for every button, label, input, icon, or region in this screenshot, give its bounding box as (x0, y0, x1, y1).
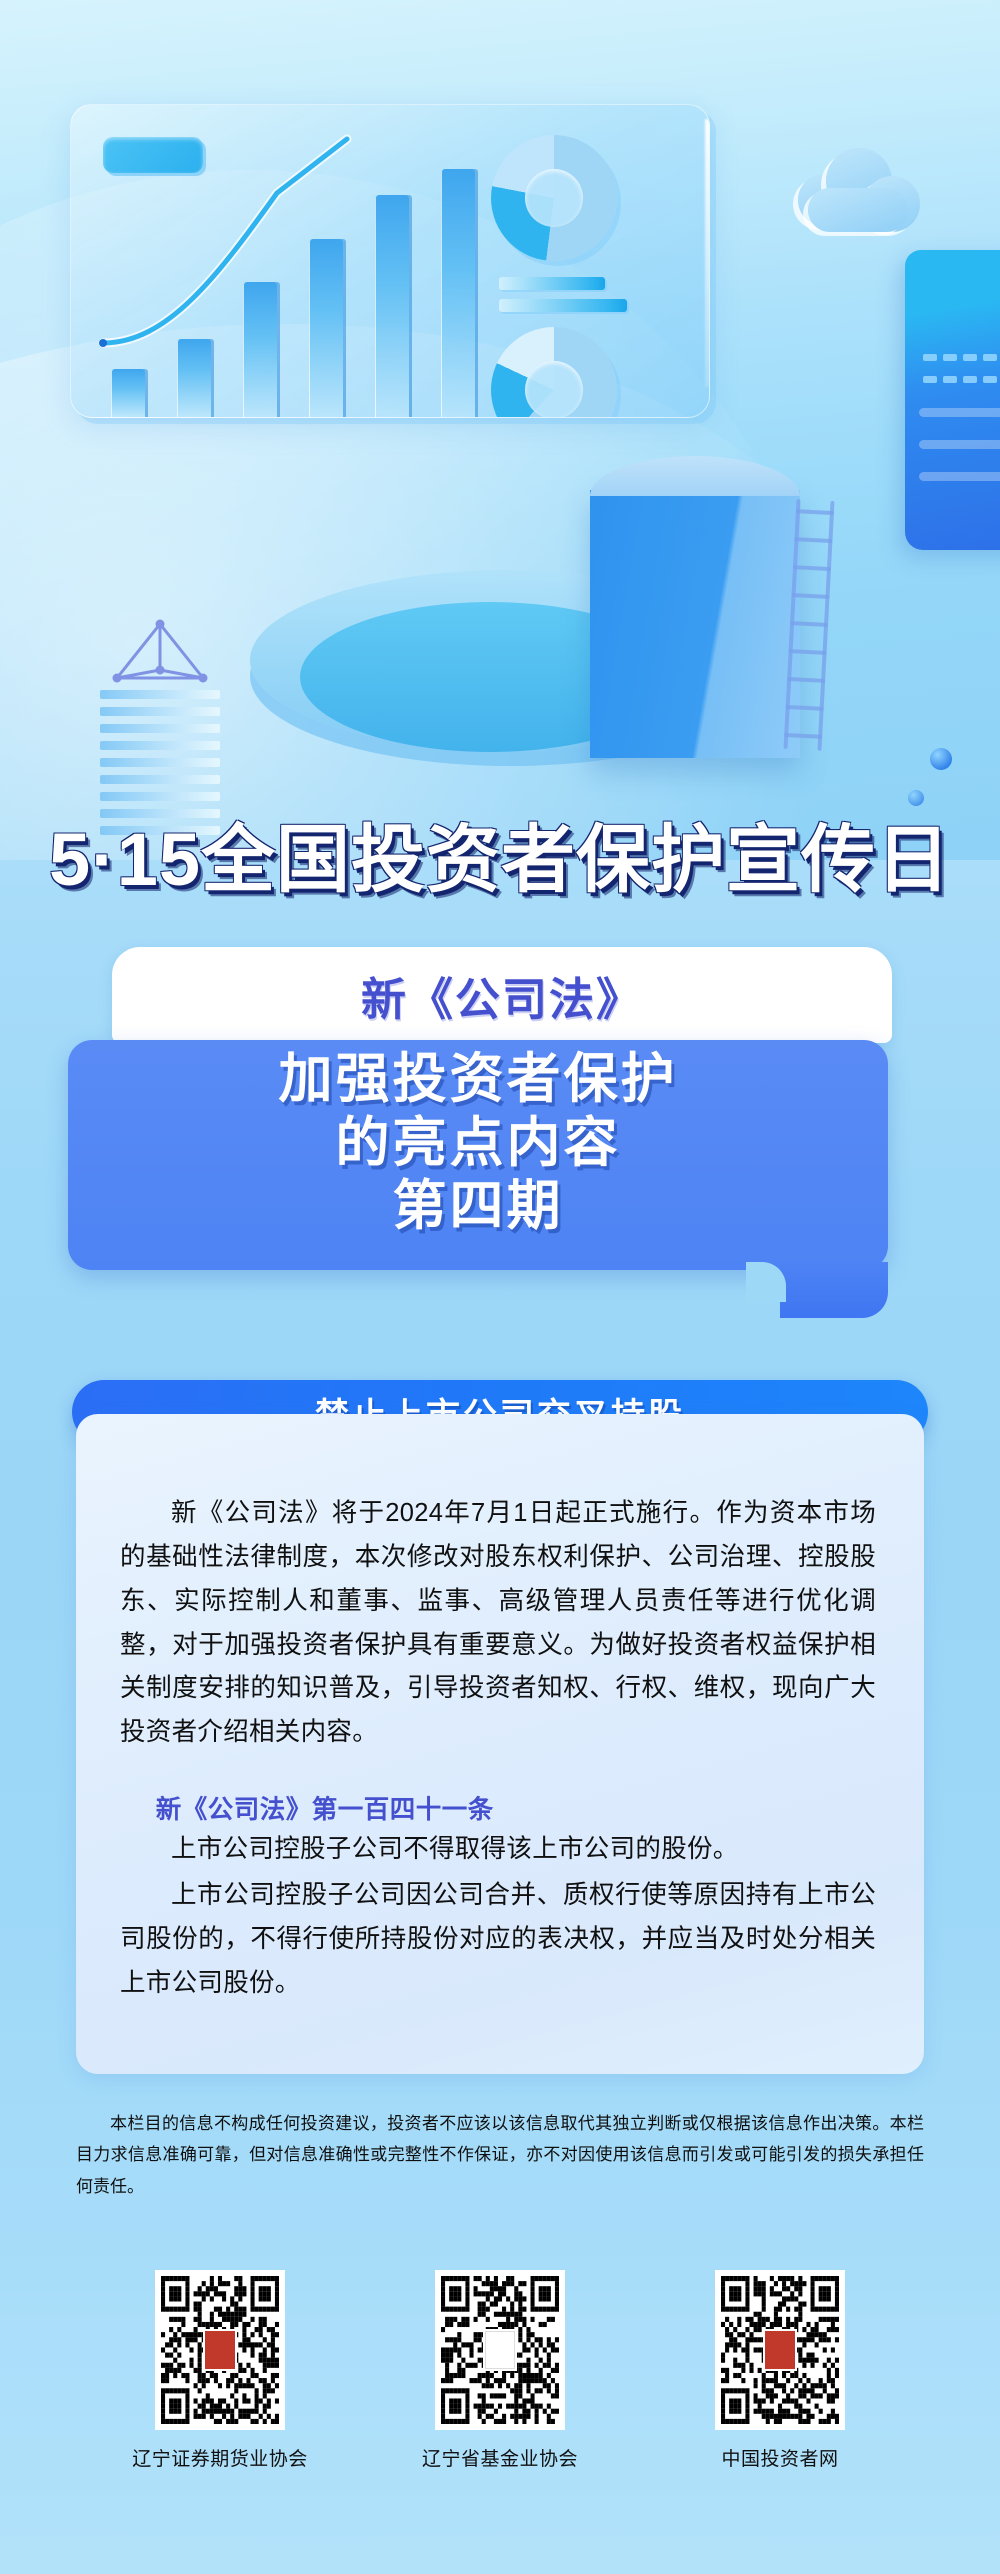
qr-item-1[interactable]: 辽宁证券期货业协会 (115, 2270, 325, 2471)
qr-code-box-1[interactable] (155, 2270, 285, 2430)
cloud-icon (798, 148, 930, 234)
qr-logo-3 (763, 2329, 797, 2371)
donut-chart-bottom (491, 327, 617, 418)
title-card-line-3: 第四期 (68, 1175, 888, 1239)
qr-label-3: 中国投资者网 (675, 2444, 885, 2471)
qr-code-box-3[interactable] (715, 2270, 845, 2430)
donut-hole-bottom (525, 361, 583, 418)
article-heading: 新《公司法》第一百四十一条 (120, 1789, 876, 1826)
intro-paragraph: 新《公司法》将于2024年7月1日起正式施行。作为资本市场的基础性法律制度，本次… (120, 1492, 876, 1755)
article-paragraph-1: 上市公司控股子公司不得取得该上市公司的股份。 (120, 1828, 876, 1872)
content-card: 新《公司法》将于2024年7月1日起正式施行。作为资本市场的基础性法律制度，本次… (76, 1414, 924, 2074)
law-name-text: 新《公司法》 (361, 963, 643, 1028)
page-title: 5·15全国投资者保护宣传日 (0, 800, 1000, 907)
qr-code-image-1 (161, 2276, 279, 2424)
speech-bubble-tail (780, 1262, 888, 1318)
bar-3 (243, 282, 277, 417)
qr-label-2: 辽宁省基金业协会 (395, 2444, 605, 2471)
donut-chart-top (491, 135, 617, 261)
qr-logo-1 (203, 2329, 237, 2371)
bar-1 (111, 369, 145, 417)
qr-code-image-3 (721, 2276, 839, 2424)
title-card-line-1: 加强投资者保护 (68, 1040, 888, 1112)
qr-code-box-2[interactable] (435, 2270, 565, 2430)
wireframe-pyramid-icon (105, 618, 215, 698)
title-card-line-2: 的亮点内容 (68, 1112, 888, 1176)
bar-2 (177, 339, 211, 417)
qr-code-image-2 (441, 2276, 559, 2424)
qr-item-3[interactable]: 中国投资者网 (675, 2270, 885, 2471)
law-name-card: 新《公司法》 (112, 947, 892, 1043)
qr-logo-2 (483, 2329, 517, 2371)
progress-bar-2 (499, 299, 627, 312)
qr-item-2[interactable]: 辽宁省基金业协会 (395, 2270, 605, 2471)
bar-6 (441, 169, 475, 417)
bar-4 (309, 239, 343, 417)
document-panel (905, 250, 1000, 550)
bar-chart (111, 167, 441, 417)
bar-5 (375, 195, 409, 417)
hero-illustration (0, 0, 1000, 860)
progress-bar-1 (499, 277, 605, 290)
decor-sphere-1 (930, 748, 952, 770)
qr-code-row: 辽宁证券期货业协会 辽宁省基金业协会 中国投资者网 (80, 2270, 920, 2471)
article-paragraph-2: 上市公司控股子公司因公司合并、质权行使等原因持有上市公司股份的，不得行使所持股份… (120, 1874, 876, 2006)
donut-hole-top (525, 169, 583, 227)
cube-block (590, 490, 800, 758)
dashboard-panel (70, 104, 710, 418)
qr-label-1: 辽宁证券期货业协会 (115, 2444, 325, 2471)
title-speech-card: 加强投资者保护 的亮点内容 第四期 (68, 1040, 888, 1270)
disclaimer-text: 本栏目的信息不构成任何投资建议，投资者不应该以该信息取代其独立判断或仅根据该信息… (76, 2108, 924, 2202)
